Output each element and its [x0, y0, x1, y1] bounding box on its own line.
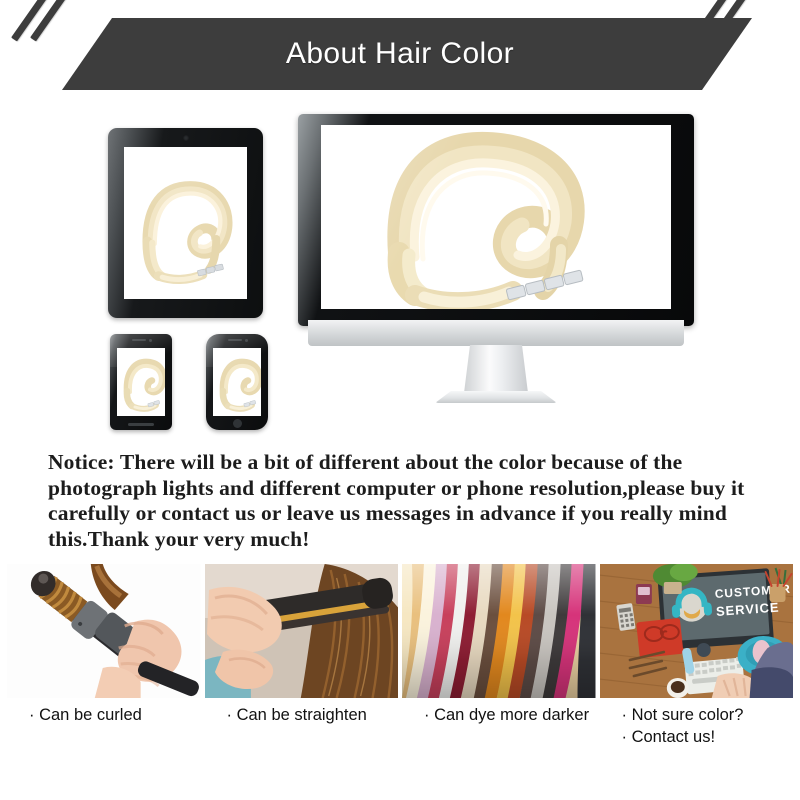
monitor-chin [308, 320, 684, 346]
caption-straighten: Can be straighten [205, 704, 399, 764]
phone-top-bar [110, 334, 172, 347]
phone-top-bar [206, 334, 268, 347]
monitor-device [298, 114, 694, 424]
page-header: About Hair Color [0, 0, 800, 108]
tablet-screen [124, 147, 247, 299]
home-button[interactable] [233, 419, 242, 428]
earpiece-speaker-icon [228, 339, 242, 341]
hair-product-image [213, 348, 261, 416]
caption-line: Contact us! [622, 726, 794, 748]
caption-line: Not sure color? [622, 704, 794, 726]
hair-product-image [124, 147, 247, 299]
tablet-device [108, 128, 263, 318]
camera-icon [183, 135, 189, 141]
caption-curled: Can be curled [7, 704, 201, 764]
smartphone-right [206, 334, 268, 430]
camera-icon [149, 339, 152, 342]
monitor-screen [321, 125, 671, 309]
hair-product-image [117, 348, 165, 416]
home-button[interactable] [128, 423, 154, 426]
device-showcase [0, 108, 800, 438]
phone-screen [117, 348, 165, 416]
caption-line: Can dye more darker [424, 704, 596, 726]
page-title: About Hair Color [62, 18, 752, 90]
monitor-stand-neck [464, 345, 528, 393]
feature-image-curled [7, 564, 201, 698]
smartphone-left [110, 334, 172, 430]
caption-dye-darker: Can dye more darker [402, 704, 596, 764]
feature-caption-row: Can be curled Can be straighten Can dye … [7, 704, 793, 764]
feature-image-customer-service: CUSTOMER SERVICE [600, 564, 794, 698]
camera-icon [245, 339, 248, 342]
monitor-stand-base [435, 391, 557, 403]
page-root: About Hair Color [0, 0, 800, 800]
caption-line: Can be straighten [227, 704, 399, 726]
earpiece-speaker-icon [132, 339, 146, 341]
color-disclaimer-notice: Notice: There will be a bit of different… [48, 450, 760, 552]
monitor-bezel [298, 114, 694, 326]
phone-screen [213, 348, 261, 416]
feature-image-dye-darker [402, 564, 596, 698]
caption-contact: Not sure color? Contact us! [600, 704, 794, 764]
caption-line: Can be curled [29, 704, 201, 726]
hair-product-image [321, 125, 671, 309]
feature-image-straighten [205, 564, 399, 698]
header-banner: About Hair Color [62, 18, 752, 90]
feature-image-row: CUSTOMER SERVICE [7, 564, 793, 698]
